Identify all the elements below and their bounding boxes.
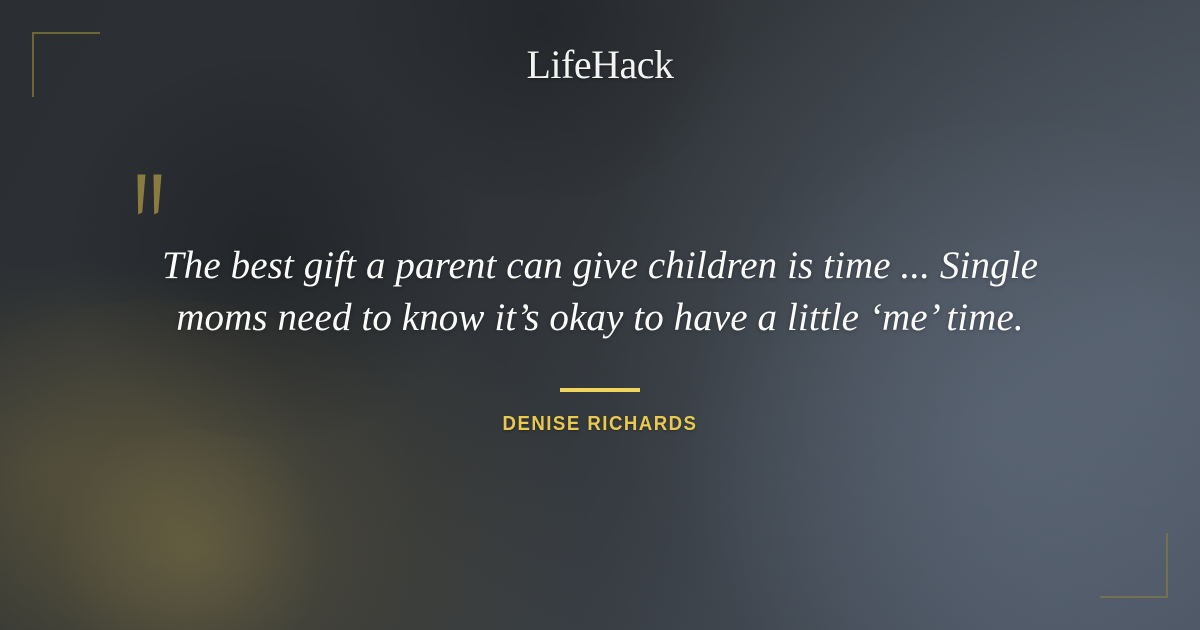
quote-line-2: moms need to know it’s okay to have a li… <box>100 292 1100 344</box>
quote-line-1: The best gift a parent can give children… <box>100 240 1100 292</box>
quote-author: DENISE RICHARDS <box>42 413 1158 436</box>
divider-wrap <box>0 379 1200 397</box>
quote-card: LifeHack The best gift a parent can give… <box>0 0 1200 630</box>
lifehack-logo[interactable]: LifeHack <box>0 41 1200 88</box>
quote-block: The best gift a parent can give children… <box>100 240 1100 344</box>
background-glow-lower-left <box>0 300 440 630</box>
gold-divider <box>560 388 640 392</box>
background-glow-warm <box>40 430 340 630</box>
double-quote-icon <box>131 172 177 220</box>
corner-bracket-bottom-right-icon <box>1100 533 1168 598</box>
background-shade-top <box>330 0 750 200</box>
background-glow-right <box>660 120 1200 630</box>
